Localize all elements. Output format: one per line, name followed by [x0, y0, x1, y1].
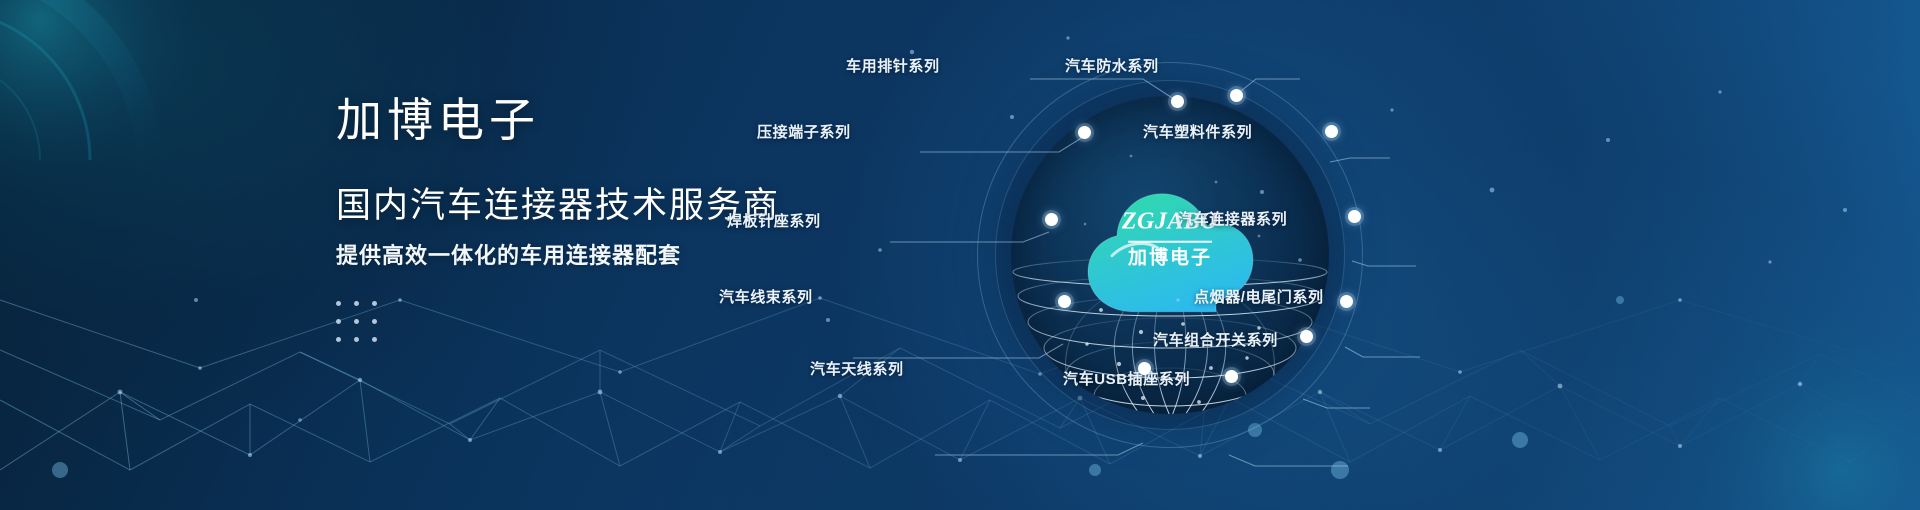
page-title: 加博电子	[336, 98, 780, 144]
grid-dot	[336, 337, 341, 342]
grid-dot	[336, 301, 341, 306]
headline-text-block: 加博电子 国内汽车连接器技术服务商 提供高效一体化的车用连接器配套	[336, 98, 780, 350]
dot-grid-decoration	[336, 301, 780, 350]
label-waterproof[interactable]: 汽车防水系列	[1065, 55, 1159, 76]
grid-dot	[372, 337, 377, 342]
grid-dot	[336, 319, 341, 324]
grid-dot	[372, 301, 377, 306]
logo-chinese-text: 加博电子	[1082, 249, 1258, 268]
label-connector[interactable]: 汽车连接器系列	[1178, 208, 1287, 229]
grid-dot	[372, 319, 377, 324]
tagline: 国内汽车连接器技术服务商	[336, 188, 780, 223]
grid-dot	[354, 319, 359, 324]
label-plastic-parts[interactable]: 汽车塑料件系列	[1143, 121, 1252, 142]
label-solder-header[interactable]: 焊板针座系列	[727, 210, 821, 231]
label-crimp-terminal[interactable]: 压接端子系列	[757, 121, 851, 142]
sub-tagline: 提供高效一体化的车用连接器配套	[336, 245, 780, 267]
logo-divider	[1128, 241, 1212, 243]
grid-dot	[354, 337, 359, 342]
grid-dot	[354, 301, 359, 306]
label-combi-switch[interactable]: 汽车组合开关系列	[1153, 329, 1278, 350]
label-pin-header[interactable]: 车用排针系列	[846, 55, 940, 76]
label-usb-socket[interactable]: 汽车USB插座系列	[1063, 368, 1190, 389]
hero-banner: 加博电子 国内汽车连接器技术服务商 提供高效一体化的车用连接器配套	[0, 0, 1920, 510]
globe-graphic: ZGJABO 加博电子	[860, 0, 1480, 510]
label-cigarette-tailgate[interactable]: 点烟器/电尾门系列	[1194, 286, 1324, 307]
label-wire-harness[interactable]: 汽车线束系列	[719, 286, 813, 307]
label-antenna[interactable]: 汽车天线系列	[810, 358, 904, 379]
